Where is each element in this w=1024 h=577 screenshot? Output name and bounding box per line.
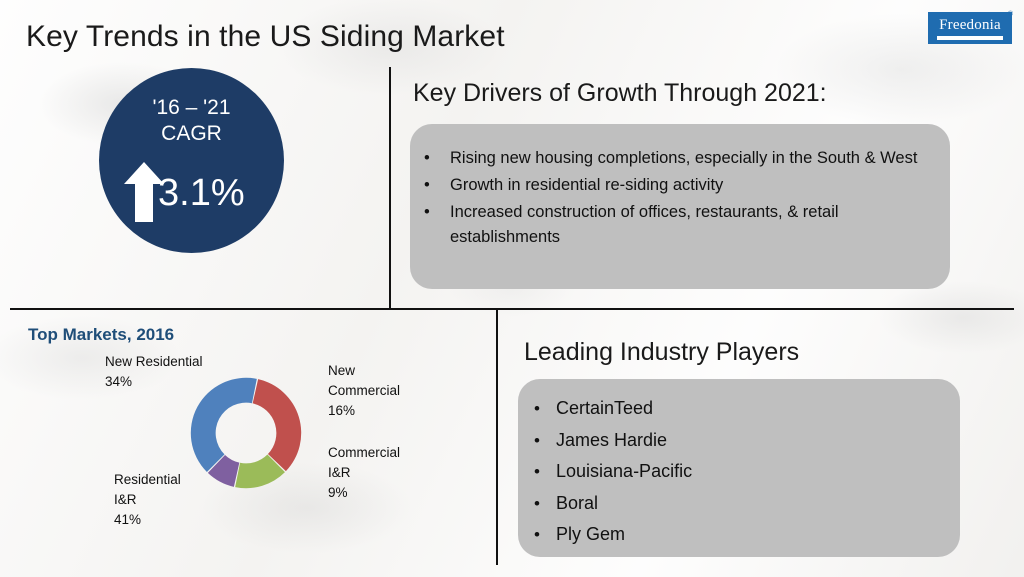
cagr-period-years: '16 – '21: [99, 95, 284, 121]
bullet-icon: •: [424, 200, 450, 250]
list-item: • CertainTeed: [534, 393, 944, 425]
driver-text: Increased construction of offices, resta…: [450, 200, 940, 250]
list-item: • Louisiana-Pacific: [534, 456, 944, 488]
bullet-icon: •: [534, 456, 556, 488]
bullet-icon: •: [534, 519, 556, 551]
label-name-line1: Residential: [114, 470, 181, 490]
list-item: • James Hardie: [534, 425, 944, 457]
logo-wordmark: Freedonia: [939, 18, 1001, 33]
label-value: 16%: [328, 401, 400, 421]
donut-label-commercial-ir: Commercial I&R 9%: [328, 443, 400, 503]
player-name: CertainTeed: [556, 393, 653, 425]
bullet-icon: •: [534, 488, 556, 520]
players-list: • CertainTeed • James Hardie • Louisiana…: [534, 393, 944, 551]
bullet-icon: •: [424, 173, 450, 198]
donut-slice-new-residential: [253, 379, 302, 471]
cagr-period: '16 – '21 CAGR: [99, 95, 284, 147]
driver-text: Rising new housing completions, especial…: [450, 146, 940, 171]
freedonia-logo: Freedonia ®: [928, 12, 1012, 44]
bullet-icon: •: [534, 425, 556, 457]
label-name-line2: I&R: [114, 490, 181, 510]
label-name-line2: Commercial: [328, 381, 400, 401]
donut-label-new-commercial: New Commercial 16%: [328, 361, 400, 421]
divider-horizontal: [10, 308, 1014, 310]
player-name: James Hardie: [556, 425, 667, 457]
player-name: Ply Gem: [556, 519, 625, 551]
divider-vertical-top: [389, 67, 391, 309]
player-name: Boral: [556, 488, 598, 520]
drivers-list: • Rising new housing completions, especi…: [424, 146, 940, 252]
list-item: • Rising new housing completions, especi…: [424, 146, 940, 171]
registered-trademark-icon: ®: [1008, 11, 1013, 18]
cagr-period-label: CAGR: [99, 121, 284, 147]
players-title: Leading Industry Players: [524, 338, 799, 367]
label-name-line1: Commercial: [328, 443, 400, 463]
bullet-icon: •: [534, 393, 556, 425]
label-value: 34%: [105, 372, 203, 392]
list-item: • Increased construction of offices, res…: [424, 200, 940, 250]
label-name-line2: I&R: [328, 463, 400, 483]
logo-underline-bar: [937, 36, 1003, 40]
list-item: • Ply Gem: [534, 519, 944, 551]
bullet-icon: •: [424, 146, 450, 171]
label-value: 9%: [328, 483, 400, 503]
list-item: • Growth in residential re-siding activi…: [424, 173, 940, 198]
label-name: New Residential: [105, 352, 203, 372]
label-name-line1: New: [328, 361, 400, 381]
player-name: Louisiana-Pacific: [556, 456, 692, 488]
donut-label-new-residential: New Residential 34%: [105, 352, 203, 392]
donut-label-residential-ir: Residential I&R 41%: [114, 470, 181, 530]
divider-vertical-bottom: [496, 309, 498, 565]
list-item: • Boral: [534, 488, 944, 520]
donut-chart: [186, 373, 306, 493]
page-title: Key Trends in the US Siding Market: [26, 20, 505, 54]
markets-title: Top Markets, 2016: [28, 325, 174, 345]
label-value: 41%: [114, 510, 181, 530]
cagr-value: 3.1%: [158, 172, 245, 215]
driver-text: Growth in residential re-siding activity: [450, 173, 940, 198]
drivers-title: Key Drivers of Growth Through 2021:: [413, 79, 827, 108]
